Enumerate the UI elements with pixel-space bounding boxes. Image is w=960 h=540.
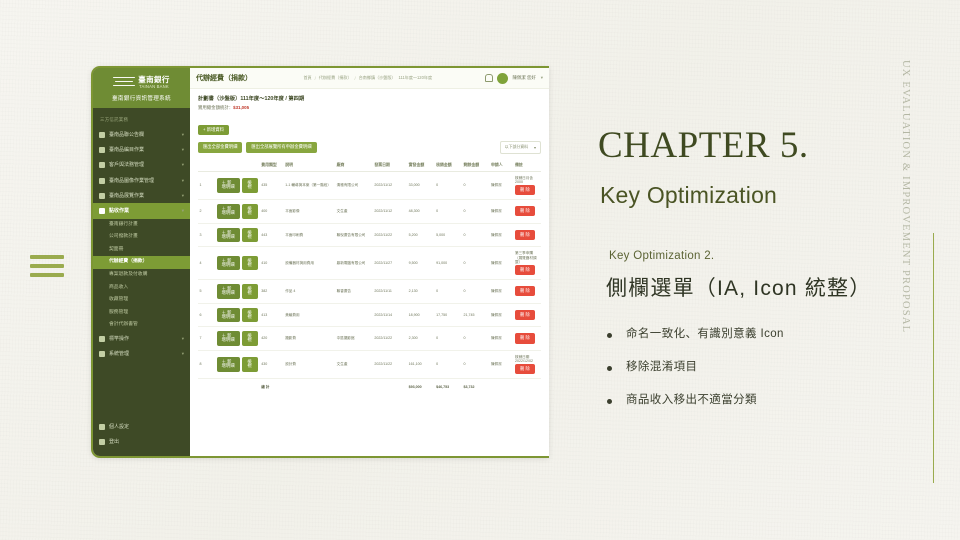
hamburger-bar <box>30 264 64 268</box>
sidebar-item-label: 登出 <box>109 439 184 445</box>
cell-applicant: 陳佩潔 <box>489 303 513 327</box>
sidebar-item-label: 標竿操作 <box>109 336 178 342</box>
cell-vendor: 中區攝影館 <box>335 327 373 351</box>
cell-remain: 0 <box>462 327 489 351</box>
col-vendor: 廠商 <box>335 159 373 172</box>
cell-type: 430 <box>260 350 284 378</box>
row-view-button[interactable]: 檢 視 <box>242 284 258 299</box>
sidebar-section-label: 三方信託業務 <box>93 108 190 127</box>
sidebar-subitem-collection[interactable]: 收藏管理 <box>93 294 190 307</box>
cell-note: 刪 除 <box>513 279 541 303</box>
row-add-detail-button[interactable]: ＋ 新增明細 <box>217 284 241 299</box>
cell-desc: 設計費 <box>284 350 335 378</box>
table-row: 8＋ 新增明細檢 視430設計費文生產2022/11/22161,10000陳佩… <box>198 350 541 378</box>
chapter-subtitle: Key Optimization <box>600 182 777 209</box>
cell-paid: 161,100 <box>407 350 434 378</box>
chevron-down-icon: ▾ <box>182 351 184 357</box>
expense-table: 費用類型 說明 廠商 發票日期 實發金額 核銷金額 剩餘金額 申請人 備註 1＋… <box>198 159 541 394</box>
hamburger-bar <box>30 273 64 277</box>
bullet-text: 命名一致化、有識別意義 Icon <box>626 328 784 342</box>
brand-header: 臺南銀行 TAINAN BANK 臺南銀行資訊管理系統 <box>93 68 190 108</box>
chevron-down-icon: ▾ <box>182 178 184 184</box>
cell-type: 382 <box>260 279 284 303</box>
chevron-down-icon[interactable]: ▾ <box>541 75 543 81</box>
bullet-item: 商品收入移出不適當分類 <box>607 394 907 408</box>
sidebar-item-label: 系統管理 <box>109 351 178 357</box>
sidebar-item-benchmark[interactable]: 標竿操作 ▾ <box>93 331 190 346</box>
cell-type: 400 <box>260 200 284 224</box>
sidebar-subitem-refunds[interactable]: 專案退款及付收購 <box>93 269 190 282</box>
row-delete-button[interactable]: 刪 除 <box>515 310 535 320</box>
cell-desc: 平面影像 <box>284 200 335 224</box>
cell-remain: 0 <box>462 350 489 378</box>
brand-sub: TAINAN BANK <box>138 84 170 89</box>
breadcrumb-item[interactable]: 首頁 <box>303 75 311 81</box>
col-note: 備註 <box>513 159 541 172</box>
brand-system-title: 臺南銀行資訊管理系統 <box>99 94 184 102</box>
chapter-heading: CHAPTER 5. <box>598 124 809 167</box>
cell-note: 刪 除 <box>513 223 541 247</box>
row-view-button[interactable]: 檢 視 <box>242 204 258 219</box>
col-verified: 核銷金額 <box>435 159 462 172</box>
list-icon <box>99 147 105 153</box>
row-view-button[interactable]: 檢 視 <box>242 228 258 243</box>
check-icon <box>99 208 105 214</box>
sidebar-item-label: 臺南品編目作業 <box>109 147 178 153</box>
cell-applicant: 陳佩潔 <box>489 247 513 280</box>
row-delete-button[interactable]: 刪 除 <box>515 364 535 374</box>
cell-paid: 18,900 <box>407 303 434 327</box>
total-remain: $3,732 <box>462 379 489 394</box>
row-add-detail-button[interactable]: ＋ 新增明細 <box>217 331 241 346</box>
sidebar-item-label: 臺南品展覽作業 <box>109 193 178 199</box>
cell-verified: 17,750 <box>435 303 462 327</box>
vertical-side-label: UX EVALUATION & IMPROVEMENT PROPOSAL <box>900 60 911 360</box>
cell-index: 3 <box>198 223 215 247</box>
row-view-button[interactable]: 檢 視 <box>242 357 258 372</box>
bank-logo-icon <box>113 76 135 89</box>
table-row: 5＋ 新增明細檢 視382作品 4聯香廣告2022/11/112,13000陳佩… <box>198 279 541 303</box>
sidebar-subitem-product-income[interactable]: 商品收入 <box>93 281 190 294</box>
cell-paid: 48,300 <box>407 200 434 224</box>
cell-index: 4 <box>198 247 215 280</box>
users-icon <box>99 162 105 168</box>
cell-type: 410 <box>260 247 284 280</box>
row-delete-button[interactable]: 刪 除 <box>515 230 535 240</box>
sidebar-subitem-accounting[interactable]: 會計代辦書管 <box>93 319 190 332</box>
row-add-detail-button[interactable]: ＋ 新增明細 <box>217 178 241 193</box>
app-sidebar: 臺南銀行 TAINAN BANK 臺南銀行資訊管理系統 三方信託業務 臺南品聯公… <box>93 68 190 456</box>
cell-type: 435 <box>260 171 284 199</box>
breadcrumb-item[interactable]: 代辦經費（捐款） <box>319 75 352 81</box>
table-row: 3＋ 新增明細檢 視443平面印刷費聯悅廣告有限公司2022/11/225,20… <box>198 223 541 247</box>
cell-index: 6 <box>198 303 215 327</box>
sidebar-item-cataloging[interactable]: 臺南品編目作業 ▾ <box>93 143 190 158</box>
cell-verified: 5,000 <box>435 223 462 247</box>
table-body: 1＋ 新增明細檢 視4351-1 輔導與本案（第一階段）清雅有限公司2022/1… <box>198 171 541 393</box>
breadcrumb-item[interactable]: 台南鄉鎮（沙盤版） <box>359 75 396 81</box>
col-applicant: 申請人 <box>489 159 513 172</box>
sidebar-subitem-contract[interactable]: 契面冊 <box>93 244 190 257</box>
cell-type: 413 <box>260 303 284 327</box>
cell-verified: 0 <box>435 327 462 351</box>
sidebar-item-label: 臺南品聯公告欄 <box>109 132 178 138</box>
cell-paid: 9,500 <box>407 247 434 280</box>
hamburger-bar <box>30 255 64 259</box>
cell-index: 7 <box>198 327 215 351</box>
logout-icon <box>99 439 105 445</box>
cell-index: 5 <box>198 279 215 303</box>
cell-index: 1 <box>198 171 215 199</box>
sidebar-item-label: 客戶與法務管理 <box>109 162 178 168</box>
row-add-detail-button[interactable]: ＋ 新增明細 <box>217 228 241 243</box>
cell-desc: 美編費用 <box>284 303 335 327</box>
cell-applicant: 陳佩潔 <box>489 171 513 199</box>
col-actions <box>215 159 260 172</box>
breadcrumb: 首頁 / 代辦經費（捐款） / 台南鄉鎮（沙盤版） 111年度～120年度 <box>260 75 476 81</box>
cell-note: 核銷日期2022/12/02 刪 除 <box>513 350 541 378</box>
row-add-detail-button[interactable]: ＋ 新增明細 <box>217 308 241 323</box>
chevron-down-icon: ▾ <box>182 162 184 168</box>
chevron-down-icon: ▾ <box>182 193 184 199</box>
row-view-button[interactable]: 檢 視 <box>242 308 258 323</box>
cell-vendor: 鼎新電腦有限公司 <box>335 247 373 280</box>
cell-vendor: 聯香廣告 <box>335 279 373 303</box>
bell-icon[interactable] <box>484 74 492 82</box>
image-icon <box>99 178 105 184</box>
hamburger-menu-icon[interactable] <box>30 255 64 277</box>
cell-verified: 0 <box>435 350 462 378</box>
app-content: + 新增資料 匯出全部金費明細 匯出全部展覽所有申辦金費明細 以下部分資料 ▾ <box>190 114 549 456</box>
cell-date: 2022/11/22 <box>373 327 407 351</box>
cell-desc: 1-1 輔導與本案（第一階段） <box>284 171 335 199</box>
cell-note: 核銷日月含2000 刪 除 <box>513 171 541 199</box>
cell-applicant: 陳佩潔 <box>489 223 513 247</box>
cell-remain: 0 <box>462 279 489 303</box>
export-exhibition-button[interactable]: 匯出全部展覽所有申辦金費明細 <box>246 142 316 152</box>
sidebar-item-logout[interactable]: 登出 <box>93 435 190 450</box>
cell-type: 420 <box>260 327 284 351</box>
app-main: 代辦經費（捐款） 首頁 / 代辦經費（捐款） / 台南鄉鎮（沙盤版） 111年度… <box>190 68 549 456</box>
row-add-detail-button[interactable]: ＋ 新增明細 <box>217 204 241 219</box>
cell-remain: 21,745 <box>462 303 489 327</box>
cell-desc: 設備器材與用費用 <box>284 247 335 280</box>
cell-date: 2022/11/12 <box>373 171 407 199</box>
total-amount-line: 實用總金額統計：$31,005 <box>198 105 541 111</box>
cell-note: 第三季申購（展覽器材調整） 刪 除 <box>513 247 541 280</box>
cell-applicant: 陳佩潔 <box>489 350 513 378</box>
sidebar-item-customers[interactable]: 客戶與法務管理 ▾ <box>93 158 190 173</box>
cell-remain: 0 <box>462 171 489 199</box>
row-add-detail-button[interactable]: ＋ 新增明細 <box>217 256 241 271</box>
sidebar-item-label: 點收作業 <box>109 208 178 214</box>
flag-icon <box>99 336 105 342</box>
chevron-down-icon: ▾ <box>182 336 184 342</box>
bullet-text: 移除混淆項目 <box>626 361 697 375</box>
col-desc: 說明 <box>284 159 335 172</box>
cell-remain: 0 <box>462 247 489 280</box>
row-filter-select[interactable]: 以下部分資料 ▾ <box>500 141 541 154</box>
cell-paid: 2,130 <box>407 279 434 303</box>
sidebar-item-announcements[interactable]: 臺南品聯公告欄 ▾ <box>93 127 190 142</box>
table-row: 7＋ 新增明細檢 視420攝影費中區攝影館2022/11/222,30000陳佩… <box>198 327 541 351</box>
sidebar-item-label: 臺南品圖像作業管理 <box>109 178 178 184</box>
row-delete-button[interactable]: 刪 除 <box>515 265 535 275</box>
cell-verified: 0 <box>435 200 462 224</box>
app-screenshot: 臺南銀行 TAINAN BANK 臺南銀行資訊管理系統 三方信託業務 臺南品聯公… <box>91 66 549 458</box>
plan-title: 計劃書（沙盤版）111年度～120年度 / 第四期 <box>198 94 541 102</box>
sidebar-subitem-donation-funds[interactable]: 代辦經費（捐款） <box>93 256 190 269</box>
chevron-down-icon: ▾ <box>182 208 184 214</box>
col-type: 費用類型 <box>260 159 284 172</box>
col-paid: 實發金額 <box>407 159 434 172</box>
cell-remain: 0 <box>462 200 489 224</box>
sidebar-item-exhibition[interactable]: 臺南品展覽作業 ▾ <box>93 188 190 203</box>
col-index <box>198 159 215 172</box>
cell-note: 刪 除 <box>513 303 541 327</box>
sidebar-item-label: 個人設定 <box>109 424 184 430</box>
cell-vendor: 清雅有限公司 <box>335 171 373 199</box>
cell-vendor: 文生產 <box>335 350 373 378</box>
app-topbar: 代辦經費（捐款） 首頁 / 代辦經費（捐款） / 台南鄉鎮（沙盤版） 111年度… <box>190 68 549 89</box>
page-subheader: 計劃書（沙盤版）111年度～120年度 / 第四期 實用總金額統計：$31,00… <box>190 89 549 114</box>
cell-vendor: 聯悅廣告有限公司 <box>335 223 373 247</box>
cell-date: 2022/11/27 <box>373 247 407 280</box>
sidebar-item-checkin[interactable]: 點收作業 ▾ <box>93 203 190 218</box>
chevron-down-icon: ▾ <box>182 132 184 138</box>
breadcrumb-separator: / <box>315 76 316 81</box>
row-delete-button[interactable]: 刪 除 <box>515 286 535 296</box>
brand-name: 臺南銀行 <box>138 75 170 84</box>
row-view-button[interactable]: 檢 視 <box>242 331 258 346</box>
col-date: 發票日期 <box>373 159 407 172</box>
chevron-down-icon: ▾ <box>182 147 184 153</box>
section-kicker: Key Optimization 2. <box>609 250 714 262</box>
cell-applicant: 陳佩潔 <box>489 327 513 351</box>
table-row: 6＋ 新增明細檢 視413美編費用2022/11/1418,90017,7502… <box>198 303 541 327</box>
total-verified: $46,753 <box>435 379 462 394</box>
sidebar-subitem-bank-plan[interactable]: 臺南銀行計畫 <box>93 219 190 232</box>
cell-paid: 5,200 <box>407 223 434 247</box>
bullet-dot-icon <box>607 333 612 338</box>
cell-vendor <box>335 303 373 327</box>
cell-note: 刪 除 <box>513 327 541 351</box>
cell-desc: 攝影費 <box>284 327 335 351</box>
sidebar-item-system[interactable]: 系統管理 ▾ <box>93 346 190 361</box>
user-icon <box>99 424 105 430</box>
cell-desc: 平面印刷費 <box>284 223 335 247</box>
bullet-text: 商品收入移出不適當分類 <box>626 394 757 408</box>
row-add-detail-button[interactable]: ＋ 新增明細 <box>217 357 241 372</box>
star-icon <box>99 193 105 199</box>
bullet-item: 移除混淆項目 <box>607 361 907 375</box>
grid-icon <box>99 132 105 138</box>
cell-type: 443 <box>260 223 284 247</box>
vertical-accent-line <box>933 233 934 483</box>
cell-date: 2022/11/12 <box>373 200 407 224</box>
cell-vendor: 文生產 <box>335 200 373 224</box>
cell-applicant: 陳佩潔 <box>489 200 513 224</box>
cell-verified: 0 <box>435 279 462 303</box>
section-headline: 側欄選單（IA, Icon 統整） <box>606 272 871 302</box>
total-amount-label: 實用總金額統計： <box>198 105 233 110</box>
cell-verified: 91,000 <box>435 247 462 280</box>
avatar[interactable] <box>497 73 508 84</box>
row-view-button[interactable]: 檢 視 <box>242 256 258 271</box>
user-name: 陳佩潔 您好 <box>513 75 536 81</box>
cell-index: 2 <box>198 200 215 224</box>
cell-desc: 作品 4 <box>284 279 335 303</box>
sidebar-subitem-company-plan[interactable]: 公司撥款計畫 <box>93 231 190 244</box>
cell-applicant: 陳佩潔 <box>489 279 513 303</box>
sidebar-item-personal-settings[interactable]: 個人設定 <box>93 420 190 435</box>
total-label: 總 計 <box>260 379 284 394</box>
cell-date: 2022/11/22 <box>373 223 407 247</box>
row-view-button[interactable]: 檢 視 <box>242 178 258 193</box>
bullet-dot-icon <box>607 399 612 404</box>
cell-date: 2022/11/14 <box>373 303 407 327</box>
gear-icon <box>99 351 105 357</box>
bullet-item: 命名一致化、有識別意義 Icon <box>607 328 907 342</box>
cell-remain: 0 <box>462 223 489 247</box>
bullet-dot-icon <box>607 366 612 371</box>
cell-paid: 2,300 <box>407 327 434 351</box>
sidebar-subitem-service[interactable]: 服務管理 <box>93 306 190 319</box>
cell-date: 2022/11/22 <box>373 350 407 378</box>
breadcrumb-separator: / <box>355 76 356 81</box>
export-all-button[interactable]: 匯出全部金費明細 <box>198 142 242 152</box>
table-row: 4＋ 新增明細檢 視410設備器材與用費用鼎新電腦有限公司2022/11/279… <box>198 247 541 280</box>
table-row: 1＋ 新增明細檢 視4351-1 輔導與本案（第一階段）清雅有限公司2022/1… <box>198 171 541 199</box>
add-record-button[interactable]: + 新增資料 <box>198 125 229 135</box>
col-remain: 剩餘金額 <box>462 159 489 172</box>
cell-date: 2022/11/11 <box>373 279 407 303</box>
cell-paid: 33,000 <box>407 171 434 199</box>
total-paid: $93,000 <box>407 379 434 394</box>
cell-verified: 0 <box>435 171 462 199</box>
table-row: 2＋ 新增明細檢 視400平面影像文生產2022/11/1248,30000陳佩… <box>198 200 541 224</box>
row-delete-button[interactable]: 刪 除 <box>515 185 535 195</box>
row-delete-button[interactable]: 刪 除 <box>515 206 535 216</box>
sidebar-item-images[interactable]: 臺南品圖像作業管理 ▾ <box>93 173 190 188</box>
total-amount-value: $31,005 <box>233 105 249 110</box>
row-filter-value: 以下部分資料 <box>505 144 528 150</box>
cell-note: 刪 除 <box>513 200 541 224</box>
table-header-row: 費用類型 說明 廠商 發票日期 實發金額 核銷金額 剩餘金額 申請人 備註 <box>198 159 541 172</box>
cell-index: 8 <box>198 350 215 378</box>
row-delete-button[interactable]: 刪 除 <box>515 333 535 343</box>
table-total-row: 總 計$93,000$46,753$3,732 <box>198 379 541 394</box>
page-title: 代辦經費（捐款） <box>196 73 252 83</box>
chevron-down-icon: ▾ <box>534 145 536 150</box>
bullet-list: 命名一致化、有識別意義 Icon移除混淆項目商品收入移出不適當分類 <box>607 328 907 426</box>
breadcrumb-item: 111年度～120年度 <box>399 75 433 81</box>
